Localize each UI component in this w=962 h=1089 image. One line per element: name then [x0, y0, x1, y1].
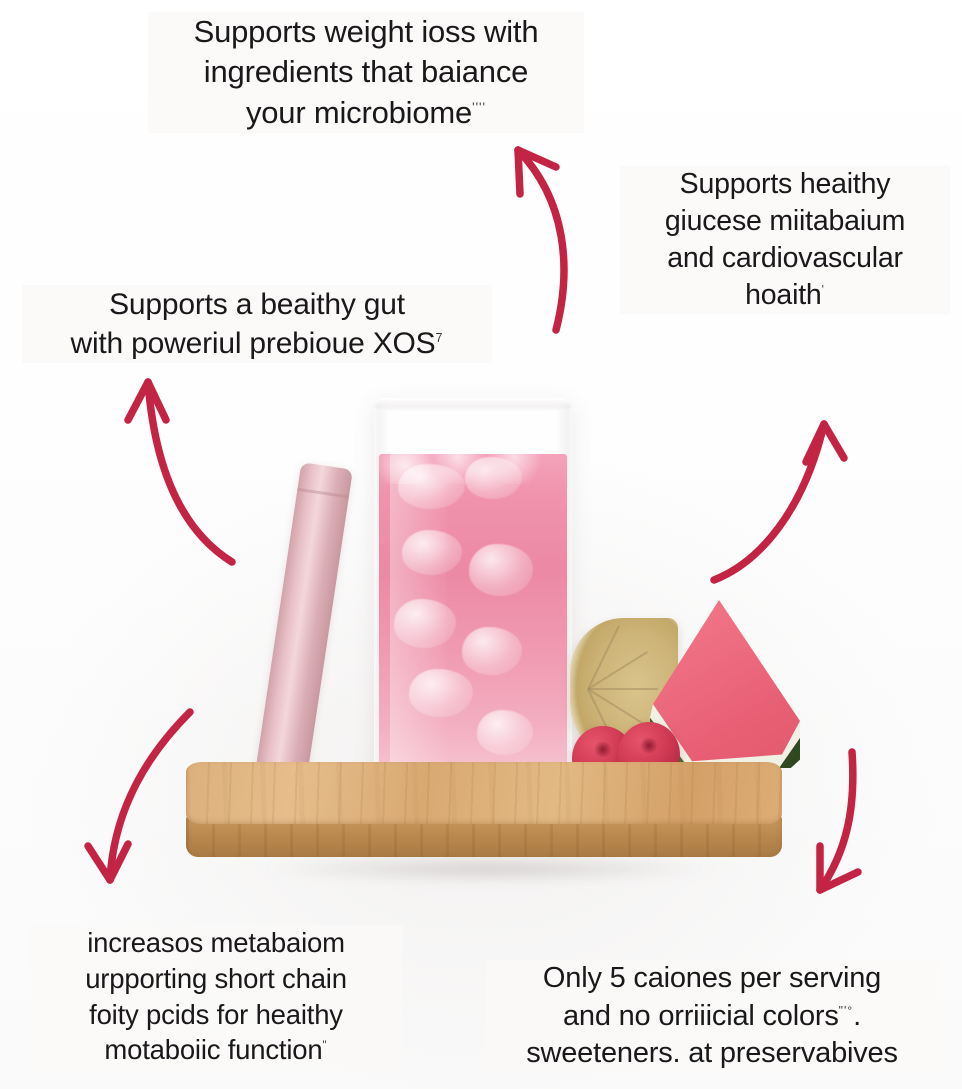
claim-left-top: Supports a beaithy gut with poweriul pre… — [22, 285, 492, 363]
cutting-board-surface — [186, 762, 782, 824]
ice-cube — [394, 599, 456, 647]
board-drop-shadow — [170, 852, 810, 886]
ice-cube — [469, 544, 533, 596]
claim-bottom-left-text: increasos metabaiom urpporting short cha… — [85, 927, 347, 1065]
product-infographic: Supports weight ioss with ingredients th… — [0, 0, 962, 1089]
claim-top-superscript: '''' — [472, 99, 486, 114]
claim-bottom-left: increasos metabaiom urpporting short cha… — [30, 925, 402, 1068]
claim-left-top-text: Supports a beaithy gut with poweriul pre… — [70, 288, 435, 360]
ice-foam-surface — [379, 438, 567, 484]
claim-bottom-right-text: Only 5 caiones per serving and no orriii… — [543, 962, 881, 1032]
claim-top: Supports weight ioss with ingredients th… — [148, 12, 584, 133]
ice-cube — [402, 530, 462, 575]
claim-bottom-right-superscript: "'° — [839, 1003, 854, 1017]
ice-cube — [477, 710, 533, 755]
berry-dimple — [594, 742, 611, 758]
claim-left-top-superscript: 7 — [435, 331, 443, 345]
ice-cube — [462, 627, 522, 675]
berry-dimple — [640, 738, 657, 754]
board-wood-grain — [186, 762, 782, 824]
claim-top-text: Supports weight ioss with ingredients th… — [194, 14, 539, 130]
pink-drink-liquid — [379, 454, 567, 800]
glass-rim — [374, 398, 572, 412]
straw-cap-line — [297, 488, 349, 499]
claim-right-top-superscript: ' — [822, 283, 825, 297]
claim-bottom-left-superscript: " — [322, 1040, 327, 1052]
tall-drinking-glass — [374, 398, 572, 806]
claim-right-top: Supports heaithy giucese miitabaium and … — [620, 166, 950, 314]
claim-right-top-text: Supports heaithy giucese miitabaium and … — [665, 168, 905, 311]
citrus-segment-line — [588, 688, 658, 690]
ice-cube — [409, 669, 473, 717]
claim-bottom-right: Only 5 caiones per serving and no orriii… — [486, 960, 938, 1073]
